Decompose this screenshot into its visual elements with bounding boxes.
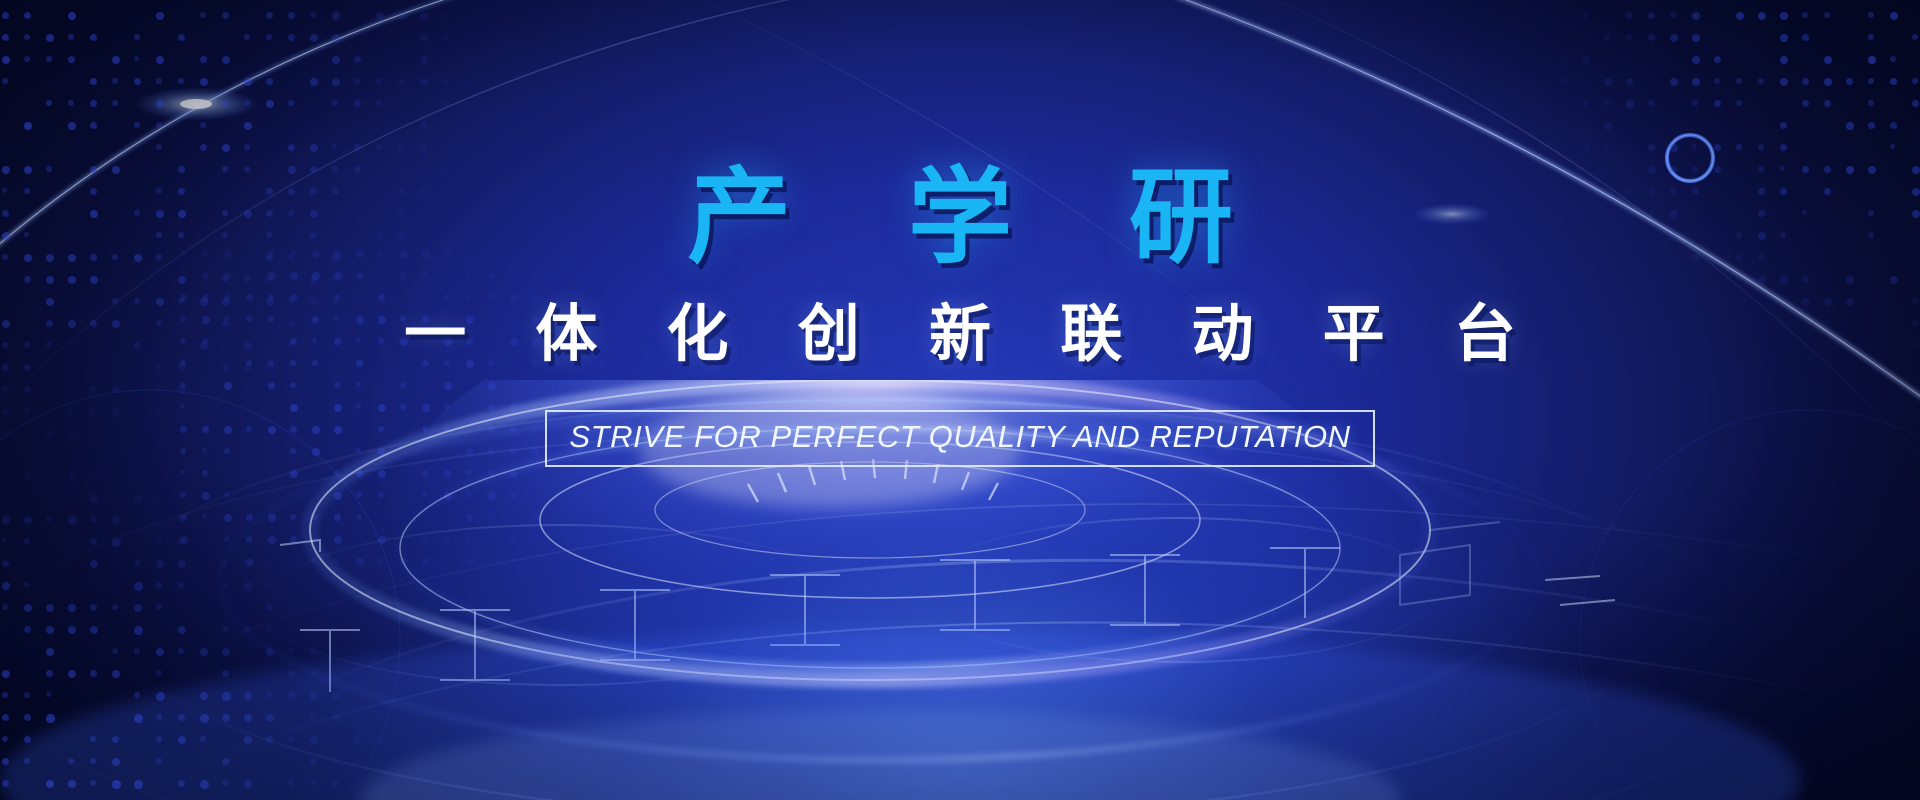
tagline-box: STRIVE FOR PERFECT QUALITY AND REPUTATIO…: [545, 410, 1374, 467]
hero-banner: 产 学 研 一 体 化 创 新 联 动 平 台 STRIVE FOR PERFE…: [0, 0, 1920, 800]
page-subtitle: 一 体 化 创 新 联 动 平 台: [378, 304, 1542, 366]
page-title: 产 学 研: [643, 166, 1277, 270]
tagline-text: STRIVE FOR PERFECT QUALITY AND REPUTATIO…: [569, 421, 1350, 454]
banner-content: 产 学 研 一 体 化 创 新 联 动 平 台 STRIVE FOR PERFE…: [0, 0, 1920, 800]
